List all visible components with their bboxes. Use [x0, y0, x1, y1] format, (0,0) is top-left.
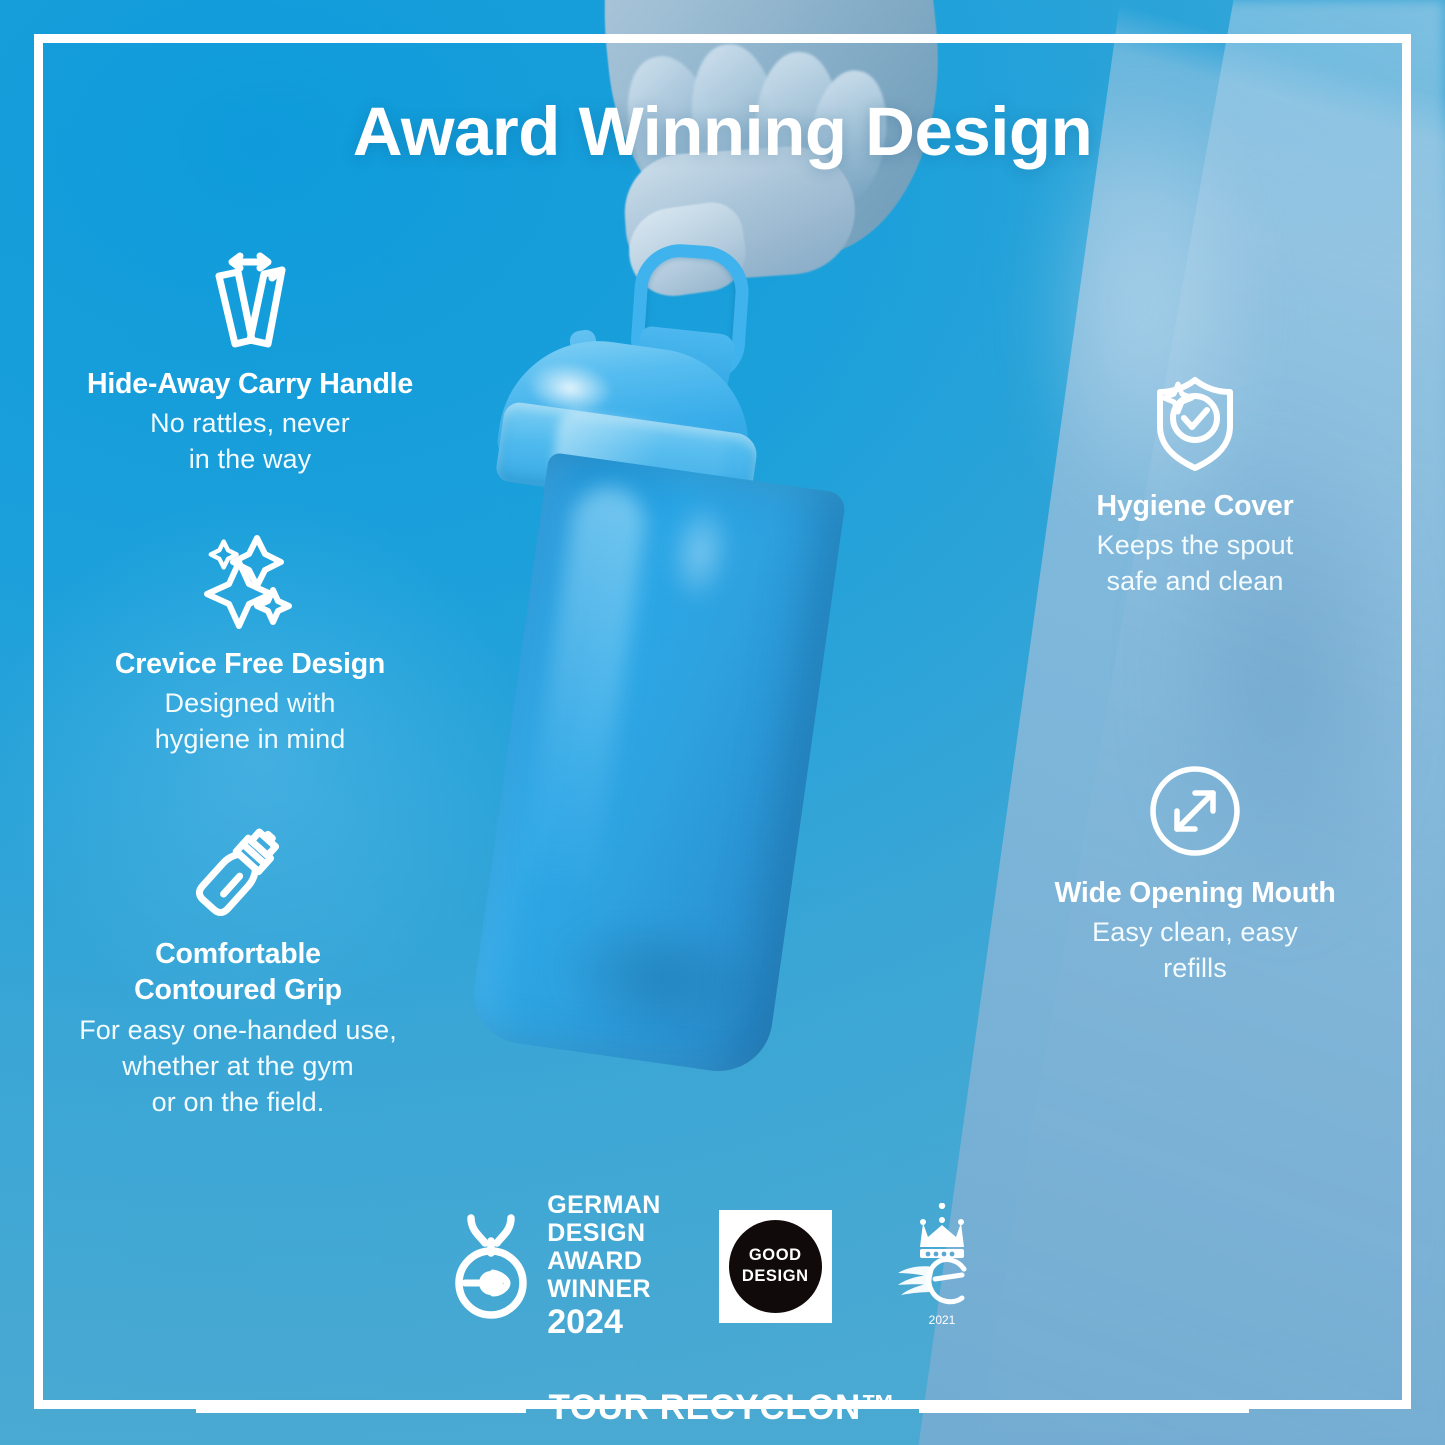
award-line: AWARD [547, 1249, 661, 1274]
feature-description-line: For easy one-handed use, [28, 1013, 448, 1049]
feature-description: For easy one-handed use, whether at the … [28, 1013, 448, 1121]
feature-description-line: in the way [40, 442, 460, 478]
infographic-canvas: Award Winning Design Hide-Away Carry Han… [0, 0, 1445, 1445]
german-design-award-medal-icon [451, 1213, 535, 1319]
award-badges: GERMAN DESIGN AWARD WINNER 2024 GOOD DES… [0, 1196, 1445, 1336]
feature-description-line: Easy clean, easy [985, 915, 1405, 951]
feature-crevice-free-design: Crevice Free Design Designed with hygien… [40, 528, 460, 758]
feature-description-line: whether at the gym [28, 1049, 448, 1085]
good-design-line1: GOOD [749, 1245, 802, 1266]
hide-away-handle-icon [40, 248, 460, 352]
feature-description-line: hygiene in mind [40, 722, 460, 758]
feature-description-line: No rattles, never [40, 406, 460, 442]
expand-arrows-circle-icon [985, 757, 1405, 861]
award-german-design-award: GERMAN DESIGN AWARD WINNER 2024 [451, 1193, 661, 1339]
feature-description-line: Keeps the spout [985, 528, 1405, 564]
queens-award-enterprise-icon: 2021 [890, 1203, 994, 1329]
award-line: WINNER [547, 1277, 661, 1302]
award-line: GERMAN [547, 1193, 661, 1218]
feature-title: Crevice Free Design [40, 646, 460, 682]
feature-description-line: safe and clean [985, 564, 1405, 600]
feature-wide-opening-mouth: Wide Opening Mouth Easy clean, easy refi… [985, 757, 1405, 987]
feature-description: No rattles, never in the way [40, 406, 460, 478]
feature-title: Wide Opening Mouth [985, 875, 1405, 911]
brand-footer: TOUR RECYCLON™ [34, 1372, 1411, 1444]
award-good-design: GOOD DESIGN [719, 1210, 832, 1323]
brand-name: TOUR RECYCLON™ [548, 1388, 896, 1428]
good-design-seal-icon: GOOD DESIGN [729, 1220, 822, 1313]
award-queens-award-enterprise: 2021 [890, 1203, 994, 1329]
page-title: Award Winning Design [0, 92, 1445, 171]
queens-award-year: 2021 [928, 1313, 955, 1327]
feature-description: Designed with hygiene in mind [40, 686, 460, 758]
contoured-bottle-icon [28, 818, 448, 922]
feature-hygiene-cover: Hygiene Cover Keeps the spout safe and c… [985, 370, 1405, 600]
feature-description: Keeps the spout safe and clean [985, 528, 1405, 600]
award-line: DESIGN [547, 1221, 661, 1246]
feature-title: Hide-Away Carry Handle [40, 366, 460, 402]
feature-hide-away-carry-handle: Hide-Away Carry Handle No rattles, never… [40, 248, 460, 478]
feature-title: Hygiene Cover [985, 488, 1405, 524]
feature-title-line: Comfortable [28, 936, 448, 972]
brand-rule-right [919, 1404, 1249, 1413]
feature-description-line: Designed with [40, 686, 460, 722]
feature-comfortable-contoured-grip: Comfortable Contoured Grip For easy one-… [28, 818, 448, 1121]
feature-description: Easy clean, easy refills [985, 915, 1405, 987]
feature-description-line: refills [985, 951, 1405, 987]
feature-title-line: Contoured Grip [28, 972, 448, 1008]
feature-description-line: or on the field. [28, 1085, 448, 1121]
shield-check-sparkle-icon [985, 370, 1405, 474]
sparkles-icon [40, 528, 460, 632]
brand-rule-left [196, 1404, 526, 1413]
feature-title: Comfortable Contoured Grip [28, 936, 448, 1009]
good-design-line2: DESIGN [742, 1266, 809, 1287]
german-design-award-text: GERMAN DESIGN AWARD WINNER 2024 [547, 1193, 661, 1339]
award-year: 2024 [547, 1305, 661, 1339]
